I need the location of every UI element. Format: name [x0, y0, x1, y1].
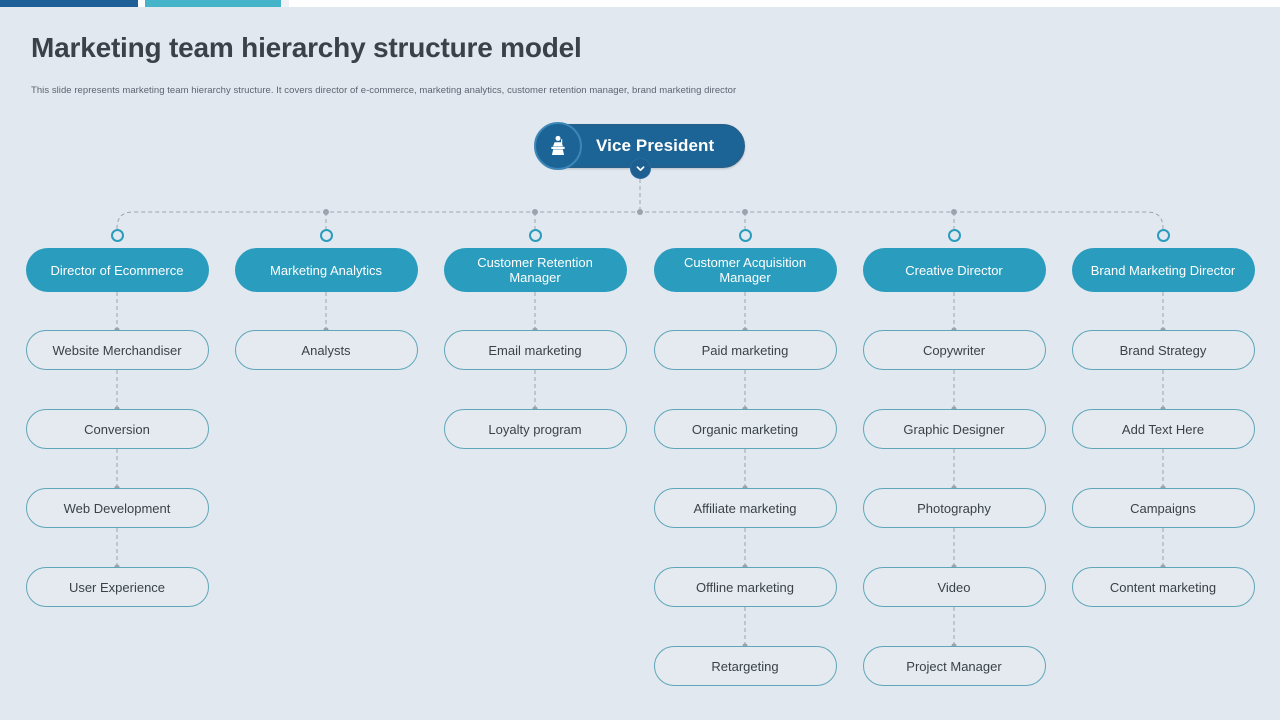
column-header-label: Customer Retention Manager: [454, 255, 617, 285]
child-node-c6-r3[interactable]: Campaigns: [1072, 488, 1255, 528]
column-connector-ring-2: [320, 229, 333, 242]
accent-segment-white: [289, 0, 1280, 7]
column-connector-ring-6: [1157, 229, 1170, 242]
column-header-4[interactable]: Customer Acquisition Manager: [654, 248, 837, 292]
column-header-2[interactable]: Marketing Analytics: [235, 248, 418, 292]
child-node-c4-r5[interactable]: Retargeting: [654, 646, 837, 686]
child-node-c4-r1[interactable]: Paid marketing: [654, 330, 837, 370]
child-node-c1-r4[interactable]: User Experience: [26, 567, 209, 607]
column-header-6[interactable]: Brand Marketing Director: [1072, 248, 1255, 292]
child-node-label: Paid marketing: [702, 343, 789, 358]
column-header-label: Brand Marketing Director: [1091, 263, 1236, 278]
child-node-label: Affiliate marketing: [693, 501, 796, 516]
speaker-podium-icon: [534, 122, 582, 170]
accent-segment-teal: [145, 0, 281, 7]
column-header-1[interactable]: Director of Ecommerce: [26, 248, 209, 292]
accent-segment-dark: [0, 0, 138, 7]
child-node-label: Content marketing: [1110, 580, 1216, 595]
accent-segment-gap-2: [281, 0, 289, 7]
child-node-c4-r3[interactable]: Affiliate marketing: [654, 488, 837, 528]
child-node-label: Conversion: [84, 422, 150, 437]
child-node-label: User Experience: [69, 580, 165, 595]
child-node-label: Website Merchandiser: [52, 343, 181, 358]
child-node-label: Photography: [917, 501, 991, 516]
child-node-label: Retargeting: [711, 659, 778, 674]
child-node-c6-r4[interactable]: Content marketing: [1072, 567, 1255, 607]
child-node-c3-r1[interactable]: Email marketing: [444, 330, 627, 370]
child-node-c5-r2[interactable]: Graphic Designer: [863, 409, 1046, 449]
child-node-c4-r4[interactable]: Offline marketing: [654, 567, 837, 607]
child-node-label: Analysts: [301, 343, 350, 358]
child-node-c6-r2[interactable]: Add Text Here: [1072, 409, 1255, 449]
page-title: Marketing team hierarchy structure model: [31, 32, 582, 64]
child-node-label: Video: [937, 580, 970, 595]
child-node-c5-r1[interactable]: Copywriter: [863, 330, 1046, 370]
top-accent-bar: [0, 0, 1280, 7]
column-header-5[interactable]: Creative Director: [863, 248, 1046, 292]
column-header-label: Creative Director: [905, 263, 1003, 278]
node-vice-president-label: Vice President: [596, 136, 714, 156]
chevron-down-icon[interactable]: [630, 158, 651, 179]
slide-canvas: Marketing team hierarchy structure model…: [0, 0, 1280, 720]
child-node-label: Offline marketing: [696, 580, 794, 595]
child-node-label: Copywriter: [923, 343, 985, 358]
child-node-label: Graphic Designer: [903, 422, 1004, 437]
child-node-c5-r4[interactable]: Video: [863, 567, 1046, 607]
child-node-c6-r1[interactable]: Brand Strategy: [1072, 330, 1255, 370]
child-node-c5-r3[interactable]: Photography: [863, 488, 1046, 528]
column-header-3[interactable]: Customer Retention Manager: [444, 248, 627, 292]
column-connector-ring-3: [529, 229, 542, 242]
column-header-label: Marketing Analytics: [270, 263, 382, 278]
child-node-label: Add Text Here: [1122, 422, 1204, 437]
column-connector-ring-4: [739, 229, 752, 242]
child-node-label: Loyalty program: [488, 422, 581, 437]
child-node-c5-r5[interactable]: Project Manager: [863, 646, 1046, 686]
child-node-c1-r3[interactable]: Web Development: [26, 488, 209, 528]
page-subtitle: This slide represents marketing team hie…: [31, 85, 736, 96]
column-header-label: Director of Ecommerce: [51, 263, 184, 278]
child-node-label: Web Development: [64, 501, 171, 516]
child-node-c2-r1[interactable]: Analysts: [235, 330, 418, 370]
child-node-label: Brand Strategy: [1120, 343, 1207, 358]
child-node-c1-r1[interactable]: Website Merchandiser: [26, 330, 209, 370]
child-node-label: Project Manager: [906, 659, 1001, 674]
child-node-c1-r2[interactable]: Conversion: [26, 409, 209, 449]
child-node-c4-r2[interactable]: Organic marketing: [654, 409, 837, 449]
child-node-label: Campaigns: [1130, 501, 1196, 516]
accent-segment-gap-1: [138, 0, 145, 7]
column-connector-ring-5: [948, 229, 961, 242]
column-connector-ring-1: [111, 229, 124, 242]
child-node-c3-r2[interactable]: Loyalty program: [444, 409, 627, 449]
child-node-label: Organic marketing: [692, 422, 798, 437]
column-header-label: Customer Acquisition Manager: [664, 255, 827, 285]
child-node-label: Email marketing: [488, 343, 581, 358]
